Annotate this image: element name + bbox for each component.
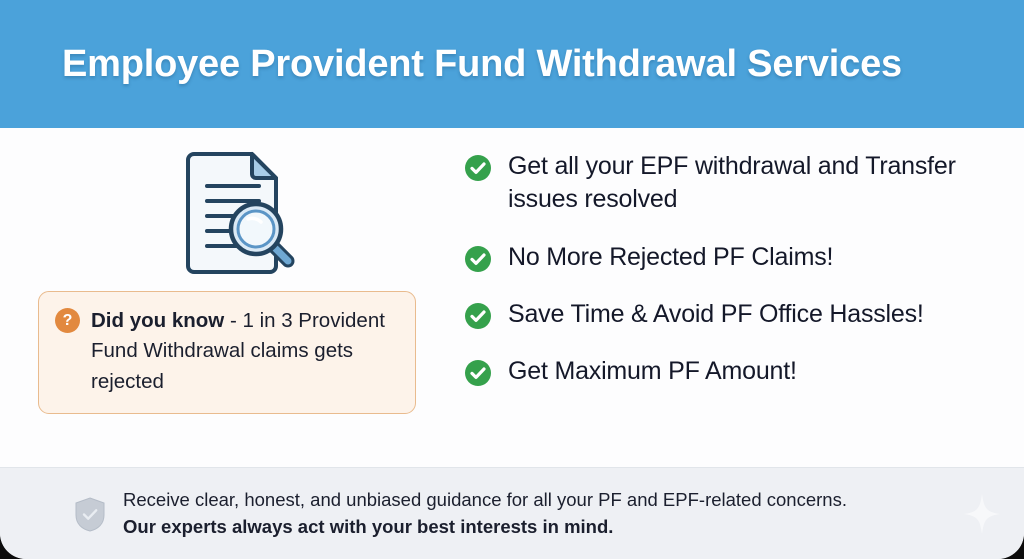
document-search-icon: [176, 146, 304, 274]
list-item: Save Time & Avoid PF Office Hassles!: [465, 298, 1004, 331]
sparkle-icon: [962, 492, 1002, 536]
shield-check-icon: [74, 496, 106, 532]
check-circle-icon: [465, 360, 491, 386]
footer-line-2: Our experts always act with your best in…: [123, 514, 847, 541]
benefit-label: Get Maximum PF Amount!: [508, 355, 797, 388]
footer-line-1: Receive clear, honest, and unbiased guid…: [123, 487, 847, 514]
benefit-label: No More Rejected PF Claims!: [508, 241, 833, 274]
footer-text: Receive clear, honest, and unbiased guid…: [123, 487, 847, 541]
check-circle-icon: [465, 246, 491, 272]
banner-body: ? Did you know - 1 in 3 Provident Fund W…: [0, 128, 1024, 467]
right-column: Get all your EPF withdrawal and Transfer…: [455, 128, 1024, 467]
page-title: Employee Provident Fund Withdrawal Servi…: [62, 43, 902, 86]
did-you-know-callout: ? Did you know - 1 in 3 Provident Fund W…: [38, 291, 416, 414]
list-item: Get all your EPF withdrawal and Transfer…: [465, 150, 1004, 217]
check-circle-icon: [465, 155, 491, 181]
question-mark-icon: ?: [55, 308, 80, 333]
did-you-know-text: Did you know - 1 in 3 Provident Fund Wit…: [91, 306, 399, 397]
list-item: No More Rejected PF Claims!: [465, 241, 1004, 274]
check-circle-icon: [465, 303, 491, 329]
benefits-list: Get all your EPF withdrawal and Transfer…: [465, 150, 1004, 388]
did-you-know-lead: Did you know: [91, 309, 224, 332]
benefit-label: Get all your EPF withdrawal and Transfer…: [508, 150, 1004, 217]
list-item: Get Maximum PF Amount!: [465, 355, 1004, 388]
left-column: ? Did you know - 1 in 3 Provident Fund W…: [0, 128, 455, 467]
epf-services-banner: Employee Provident Fund Withdrawal Servi…: [0, 0, 1024, 559]
banner-footer: Receive clear, honest, and unbiased guid…: [0, 467, 1024, 559]
banner-header: Employee Provident Fund Withdrawal Servi…: [0, 0, 1024, 128]
benefit-label: Save Time & Avoid PF Office Hassles!: [508, 298, 924, 331]
